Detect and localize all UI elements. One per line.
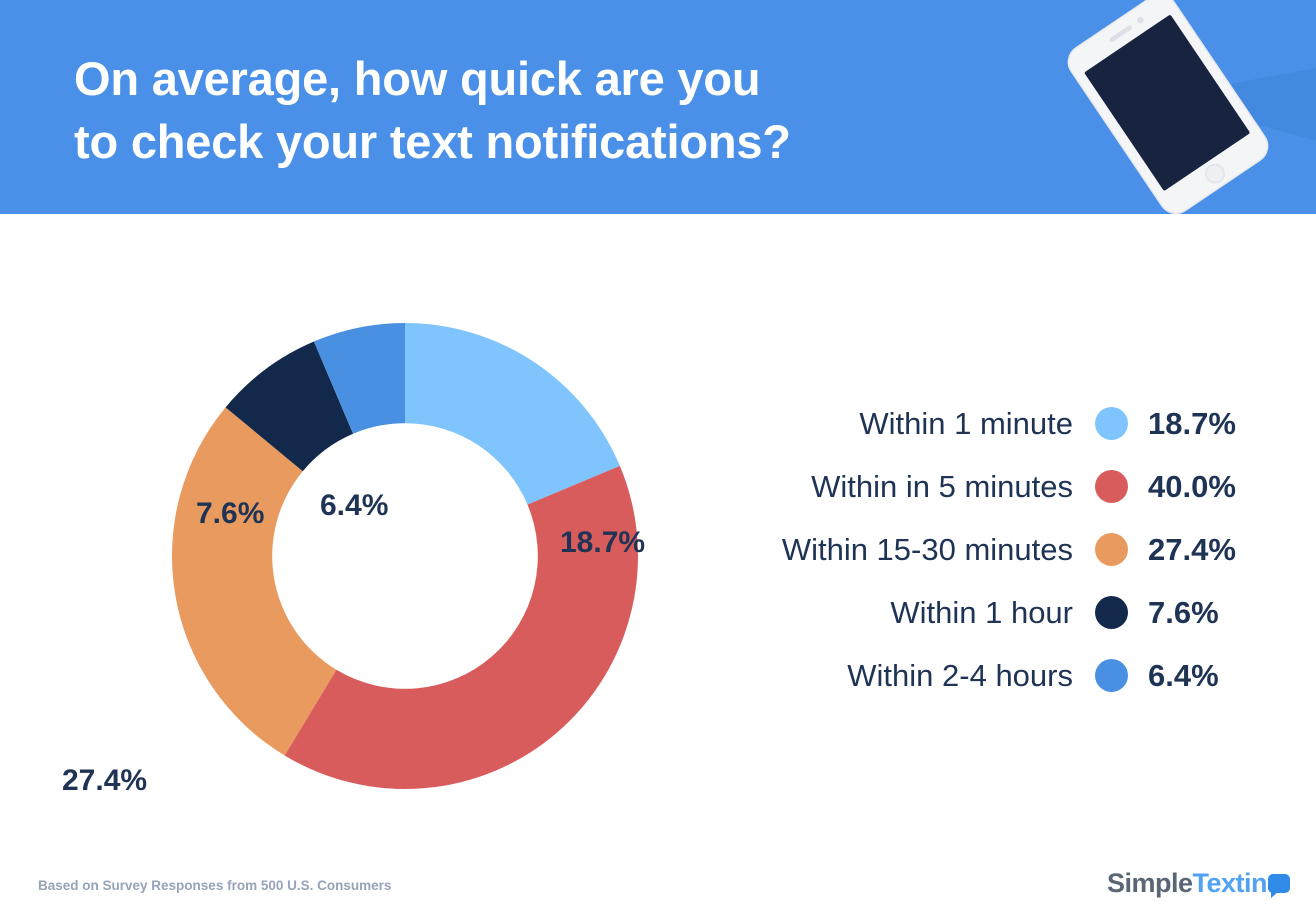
legend-item: Within in 5 minutes 40.0% xyxy=(690,455,1260,518)
page-title: On average, how quick are you to check y… xyxy=(74,48,954,173)
brand-logo: SimpleTextin xyxy=(1107,868,1290,899)
legend-color-dot xyxy=(1095,596,1128,629)
slice-label-within-1-hour: 7.6% xyxy=(196,497,264,531)
legend-item: Within 15-30 minutes 27.4% xyxy=(690,518,1260,581)
legend-item: Within 1 minute 18.7% xyxy=(690,392,1260,455)
legend-value: 40.0% xyxy=(1148,469,1260,505)
source-note: Based on Survey Responses from 500 U.S. … xyxy=(38,878,391,893)
legend-value: 7.6% xyxy=(1148,595,1260,631)
legend-value: 27.4% xyxy=(1148,532,1260,568)
legend-color-dot xyxy=(1095,407,1128,440)
slice-label-within-2-4-hours: 6.4% xyxy=(320,489,388,523)
donut-chart: 18.7% 40.0% 27.4% 7.6% 6.4% xyxy=(0,214,700,834)
donut-chart-svg xyxy=(0,214,700,834)
legend-label: Within in 5 minutes xyxy=(811,469,1073,505)
donut-slice xyxy=(405,323,620,505)
legend-item: Within 1 hour 7.6% xyxy=(690,581,1260,644)
speech-bubble-icon xyxy=(1268,874,1290,893)
infographic-page: On average, how quick are you to check y… xyxy=(0,0,1316,920)
slice-label-within-15-30-minutes: 27.4% xyxy=(62,764,147,798)
legend-label: Within 1 minute xyxy=(859,406,1073,442)
brand-name-simple: Simple xyxy=(1107,868,1193,899)
header-banner: On average, how quick are you to check y… xyxy=(0,0,1316,214)
slice-label-within-1-minute: 18.7% xyxy=(560,526,645,560)
brand-name-texting: Textin xyxy=(1192,868,1267,899)
legend-color-dot xyxy=(1095,533,1128,566)
legend-color-dot xyxy=(1095,470,1128,503)
legend-label: Within 15-30 minutes xyxy=(782,532,1073,568)
legend-label: Within 1 hour xyxy=(890,595,1073,631)
legend-item: Within 2-4 hours 6.4% xyxy=(690,644,1260,707)
chart-legend: Within 1 minute 18.7% Within in 5 minute… xyxy=(690,392,1260,707)
legend-color-dot xyxy=(1095,659,1128,692)
legend-label: Within 2-4 hours xyxy=(847,658,1073,694)
legend-value: 6.4% xyxy=(1148,658,1260,694)
legend-value: 18.7% xyxy=(1148,406,1260,442)
smartphone-icon xyxy=(1020,0,1316,214)
